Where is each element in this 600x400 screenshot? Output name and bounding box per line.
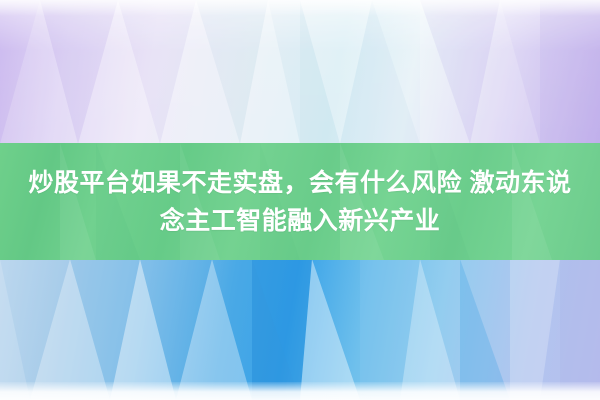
headline-line-2: 念主工智能融入新兴产业 — [20, 202, 580, 240]
top-facet-group — [0, 0, 600, 144]
headline-line-1: 炒股平台如果不走实盘，会有什么风险 激动东说 — [20, 164, 580, 202]
top-highlight-veil — [0, 0, 600, 16]
title-band: 炒股平台如果不走实盘，会有什么风险 激动东说 念主工智能融入新兴产业 — [0, 143, 600, 260]
background-top-gradient — [0, 0, 600, 144]
top-facets-svg — [0, 0, 600, 144]
bottom-highlight-veil — [0, 382, 600, 400]
banner-headline: 炒股平台如果不走实盘，会有什么风险 激动东说 念主工智能融入新兴产业 — [20, 164, 580, 240]
background-bottom-gradient — [0, 259, 600, 400]
bottom-facets-svg — [0, 259, 600, 400]
bottom-facet-group — [0, 259, 600, 400]
banner: 炒股平台如果不走实盘，会有什么风险 激动东说 念主工智能融入新兴产业 — [0, 0, 600, 400]
